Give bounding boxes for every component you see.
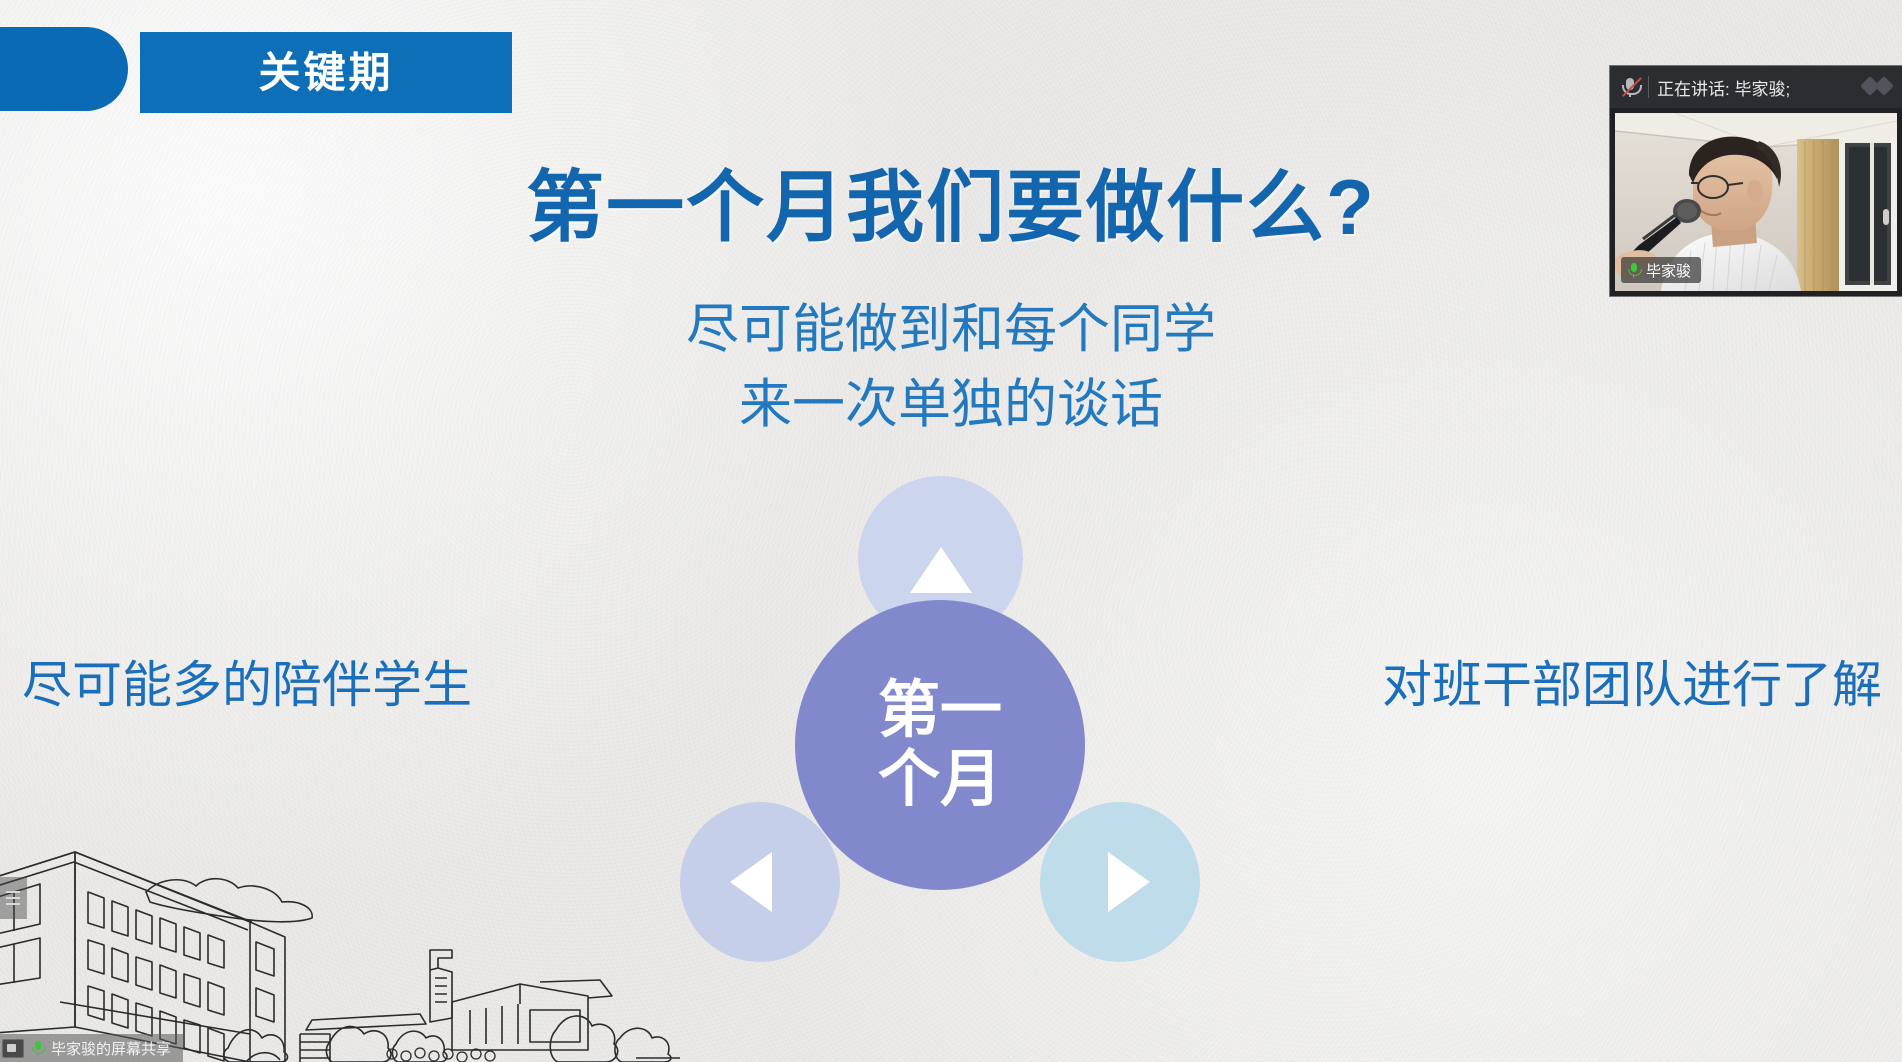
header-divider <box>1648 76 1649 98</box>
header-badge: 关键期 <box>140 32 512 113</box>
video-panel-header: 正在讲话: 毕家骏; <box>1610 66 1902 108</box>
monitor-share-icon <box>2 1039 24 1058</box>
triangle-up-icon <box>910 547 972 593</box>
first-month-diagram: 第一 个月 <box>640 480 1240 980</box>
mic-arc <box>32 1047 46 1054</box>
mic-stem <box>37 1052 39 1056</box>
header-accent-pill <box>0 27 128 111</box>
diagram-center-label-line-2: 个月 <box>878 745 1002 814</box>
mic-on-icon <box>1627 262 1640 279</box>
right-label: 对班干部团队进行了解 <box>1382 660 1882 710</box>
participant-name-badge: 毕家骏 <box>1621 257 1701 283</box>
video-thumbnail-panel[interactable]: 正在讲话: 毕家骏; <box>1610 66 1902 296</box>
menu-handle-line <box>6 891 20 893</box>
menu-handle-line <box>6 897 20 899</box>
triangle-right-icon <box>1108 852 1150 912</box>
slide-subtitle-line-2: 来一次单独的谈话 <box>0 367 1902 442</box>
menu-handle-line <box>6 903 20 905</box>
diagram-node-bottom-left <box>680 802 840 962</box>
mic-stem <box>1629 93 1631 97</box>
diagram-node-bottom-right <box>1040 802 1200 962</box>
triangle-left-icon <box>730 852 772 912</box>
left-label: 尽可能多的陪伴学生 <box>22 660 472 710</box>
mic-muted-icon[interactable] <box>1620 76 1640 98</box>
slide-subtitle-line-1: 尽可能做到和每个同学 <box>0 292 1902 367</box>
screen-share-label: 毕家骏的屏幕共享 <box>51 1038 171 1059</box>
speaking-now-label: 正在讲话: 毕家骏; <box>1657 75 1854 100</box>
double-chevron-collapse-icon[interactable] <box>1862 76 1896 98</box>
chevron-shape <box>1874 76 1894 96</box>
header-badge-label: 关键期 <box>258 52 393 94</box>
mic-on-icon <box>31 1040 44 1057</box>
screen-share-status-bar: 毕家骏的屏幕共享 <box>0 1034 183 1062</box>
diagram-center-label: 第一 个月 <box>878 676 1002 815</box>
slide-subtitle: 尽可能做到和每个同学 来一次单独的谈话 <box>0 292 1902 443</box>
meeting-screen-share-view: 关键期 第一个月我们要做什么? 尽可能做到和每个同学 来一次单独的谈话 尽可能多… <box>0 0 1902 1062</box>
participant-name: 毕家骏 <box>1646 260 1691 281</box>
diagram-node-center: 第一 个月 <box>795 600 1085 890</box>
mic-arc <box>1628 269 1642 276</box>
participant-video-feed[interactable]: 毕家骏 <box>1615 113 1897 291</box>
menu-handle-icon[interactable] <box>0 877 27 919</box>
diagram-center-label-line-1: 第一 <box>878 676 1002 745</box>
mic-stem <box>1633 274 1635 278</box>
